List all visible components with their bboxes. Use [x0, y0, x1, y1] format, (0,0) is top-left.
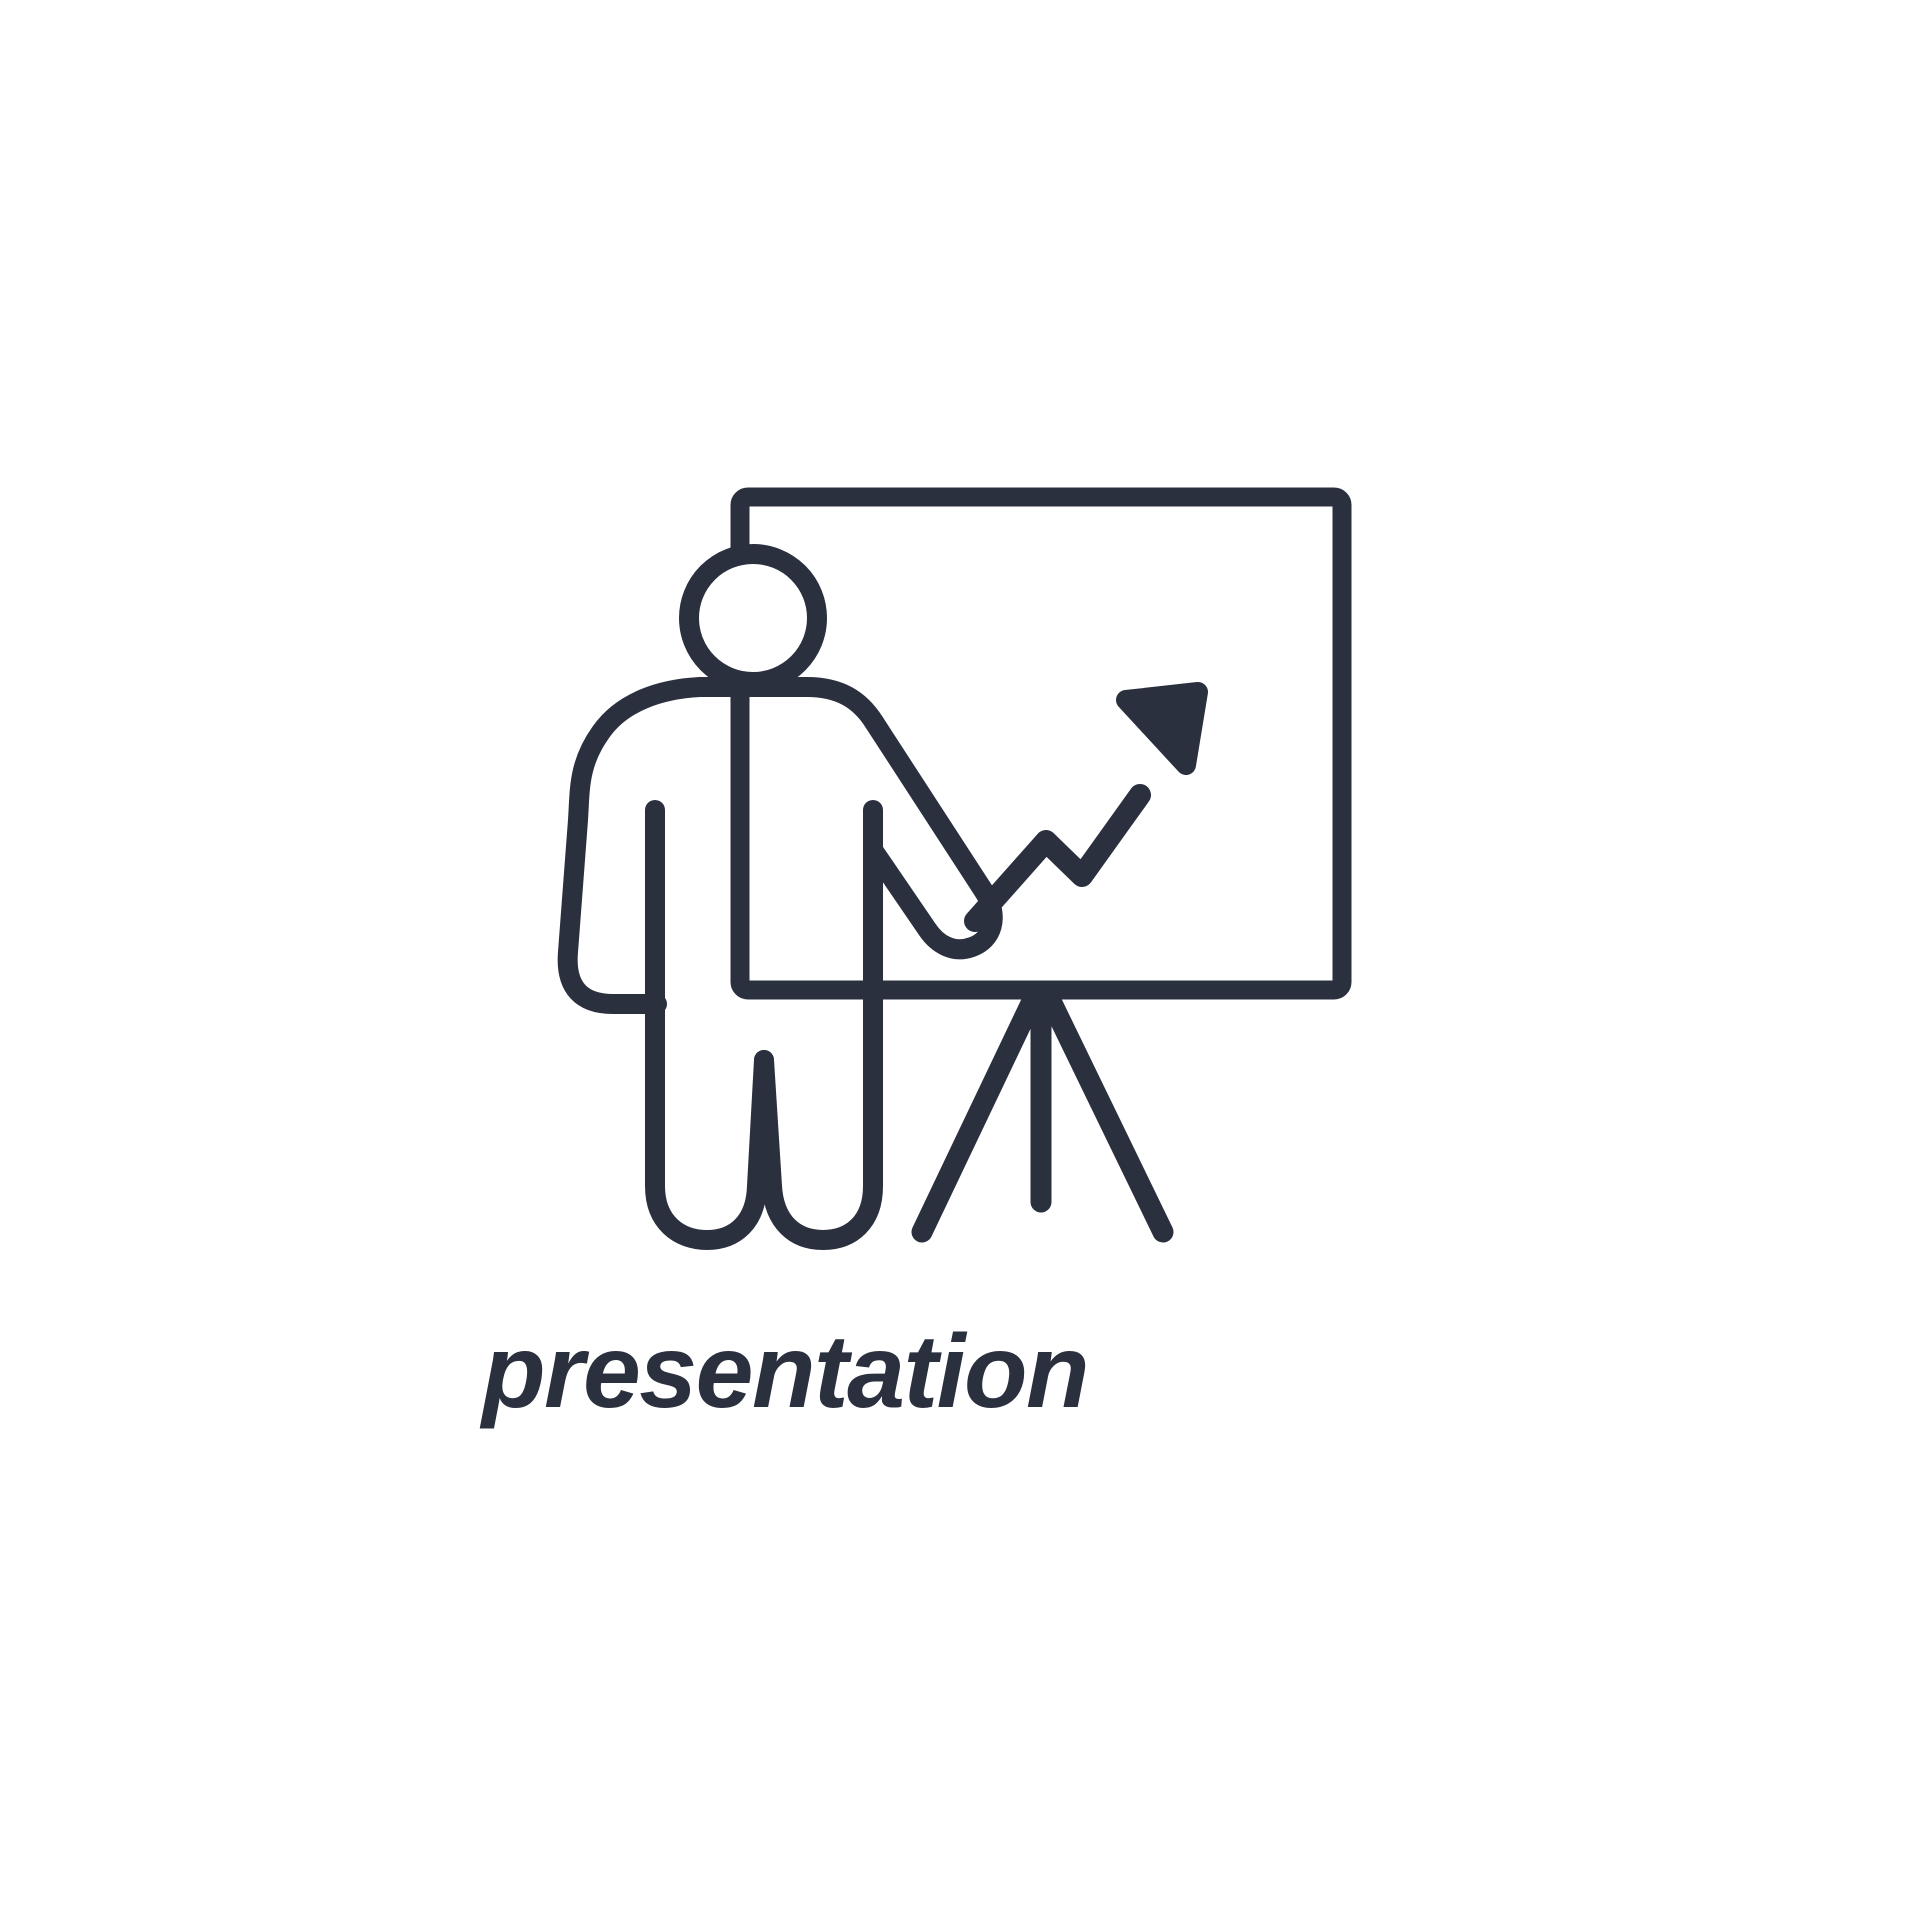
tripod-right-leg [1048, 995, 1163, 1232]
presenter-head-icon [689, 554, 817, 682]
presenter-shoulders [700, 687, 874, 722]
presenter-body [568, 687, 700, 1004]
growth-arrow-icon [975, 795, 1140, 921]
caption-label: presentation [482, 1320, 1088, 1424]
page-title: presentation [0, 1320, 1920, 1424]
growth-arrow-head-icon [1126, 692, 1198, 765]
whiteboard-frame [740, 497, 1342, 990]
icon-canvas: presentation [0, 0, 1920, 1920]
presenter-right-leg [764, 810, 873, 1240]
tripod-left-leg [922, 995, 1035, 1232]
presentation-icon [0, 0, 1920, 1920]
